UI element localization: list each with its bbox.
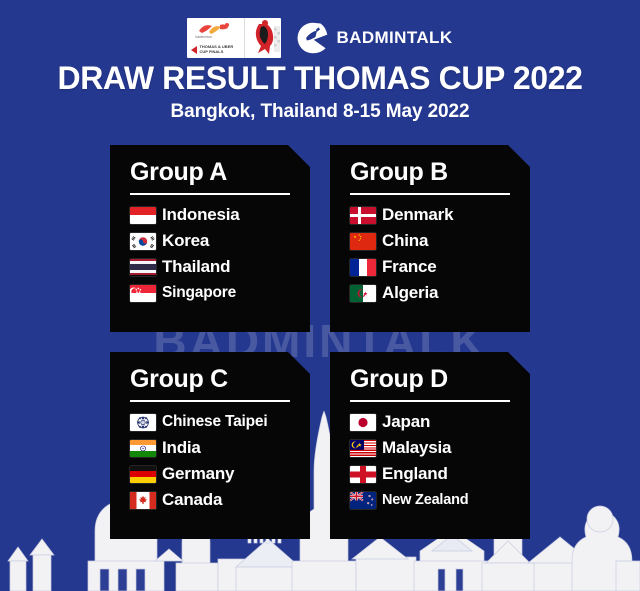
tuc-badge-text: THOMAS & UBER CUP FINALS: [199, 45, 233, 54]
list-item[interactable]: New Zealand: [350, 488, 530, 512]
sponsor-wordmark: badminton: [195, 36, 212, 40]
team-name: Malaysia: [382, 438, 451, 458]
group-panel-c: Group C: [110, 352, 310, 539]
list-item[interactable]: Germany: [130, 462, 310, 486]
flag-japan-icon: [350, 414, 376, 431]
flag-algeria-icon: [350, 285, 376, 302]
flag-france-icon: [350, 259, 376, 276]
team-name: Japan: [382, 412, 430, 432]
group-d-divider: [350, 400, 510, 402]
badmintalk-logo: BADMINTALK: [295, 21, 452, 55]
list-item[interactable]: France: [350, 255, 530, 279]
team-name: China: [382, 231, 428, 251]
flag-indonesia-icon: [130, 207, 156, 224]
list-item[interactable]: Japan: [350, 410, 530, 434]
flag-singapore-icon: [130, 285, 156, 302]
group-b-divider: [350, 193, 510, 195]
groups-grid: Group A Indonesia: [110, 145, 530, 539]
team-name: Indonesia: [162, 205, 240, 225]
team-name: England: [382, 464, 448, 484]
shuttle-triangle-icon: [191, 46, 197, 54]
team-name: Korea: [162, 231, 209, 251]
team-name: France: [382, 257, 437, 277]
flag-malaysia-icon: [350, 440, 376, 457]
page-subtitle: Bangkok, Thailand 8-15 May 2022: [0, 101, 640, 123]
list-item[interactable]: China: [350, 229, 530, 253]
group-b-team-list: Denmark China: [350, 203, 530, 305]
flag-india-icon: [130, 440, 156, 457]
group-c-divider: [130, 400, 290, 402]
group-b-title: Group B: [350, 159, 530, 186]
group-c-team-list: Chinese Taipei India: [130, 410, 310, 512]
team-name: Canada: [162, 490, 222, 510]
flag-chinese-taipei-icon: [130, 414, 156, 431]
group-panel-b: Group B Denmark: [330, 145, 530, 332]
team-name: Algeria: [382, 283, 438, 303]
flag-denmark-icon: [350, 207, 376, 224]
poster-canvas: BADMINTALK badminton THOMAS: [0, 0, 640, 591]
group-d-team-list: Japan Malaysia: [350, 410, 530, 512]
team-name: Germany: [162, 464, 234, 484]
team-name: New Zealand: [382, 492, 468, 508]
group-panel-d: Group D Japan: [330, 352, 530, 539]
list-item[interactable]: Denmark: [350, 203, 530, 227]
flag-germany-icon: [130, 466, 156, 483]
flag-new-zealand-icon: [350, 492, 376, 509]
list-item[interactable]: Canada: [130, 488, 310, 512]
list-item[interactable]: Chinese Taipei: [130, 410, 310, 434]
list-item[interactable]: Malaysia: [350, 436, 530, 460]
page-title: DRAW RESULT THOMAS CUP 2022: [0, 60, 640, 97]
badmintalk-wordmark: BADMINTALK: [336, 28, 452, 48]
list-item[interactable]: Korea: [130, 229, 310, 253]
list-item[interactable]: England: [350, 462, 530, 486]
tuc-logo-right-panel: [245, 18, 281, 58]
team-name: India: [162, 438, 201, 458]
list-item[interactable]: Algeria: [350, 281, 530, 305]
poster-header: badminton THOMAS & UBER CUP FINALS: [0, 0, 640, 123]
flag-canada-icon: [130, 492, 156, 509]
flag-korea-icon: [130, 233, 156, 250]
group-a-divider: [130, 193, 290, 195]
list-item[interactable]: Singapore: [130, 281, 310, 305]
group-a-team-list: Indonesia: [130, 203, 310, 305]
tournament-mascot-icon: [245, 18, 281, 58]
list-item[interactable]: Indonesia: [130, 203, 310, 227]
group-d-title: Group D: [350, 366, 530, 393]
flag-thailand-icon: [130, 259, 156, 276]
badmintalk-shuttle-icon: [295, 21, 329, 55]
tuc-badge-line2: CUP FINALS: [199, 49, 223, 54]
team-name: Singapore: [162, 284, 236, 302]
group-a-title: Group A: [130, 159, 310, 186]
group-panel-a: Group A Indonesia: [110, 145, 310, 332]
sponsor-mark-icon: [197, 22, 231, 35]
team-name: Denmark: [382, 205, 453, 225]
flag-china-icon: [350, 233, 376, 250]
list-item[interactable]: Thailand: [130, 255, 310, 279]
team-name: Thailand: [162, 257, 230, 277]
thomas-uber-cup-finals-logo: badminton THOMAS & UBER CUP FINALS: [187, 18, 281, 58]
tuc-badge: THOMAS & UBER CUP FINALS: [191, 45, 233, 54]
group-c-title: Group C: [130, 366, 310, 393]
team-name: Chinese Taipei: [162, 413, 267, 431]
list-item[interactable]: India: [130, 436, 310, 460]
logo-row: badminton THOMAS & UBER CUP FINALS: [0, 0, 640, 44]
flag-england-icon: [350, 466, 376, 483]
tuc-logo-left-panel: badminton THOMAS & UBER CUP FINALS: [187, 18, 245, 58]
